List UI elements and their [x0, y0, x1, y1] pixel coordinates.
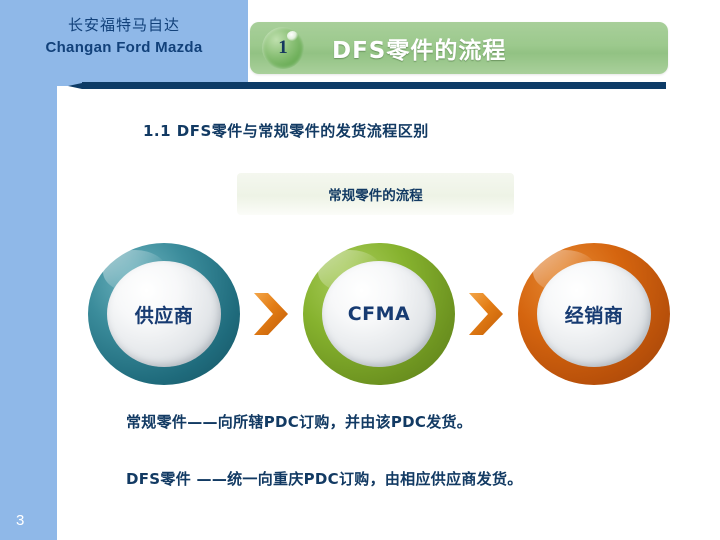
- flow-caption-label: 常规零件的流程: [237, 173, 514, 215]
- section-number-badge: 1: [262, 27, 304, 69]
- sidebar-blue-panel: [0, 86, 57, 540]
- node-label: CFMA: [303, 243, 455, 385]
- slide-canvas: 长安福特马自达 Changan Ford Mazda 1 DFS零件的流程 1.…: [0, 0, 720, 540]
- logo-english-name: Changan Ford Mazda: [0, 36, 248, 60]
- logo-chinese-name: 长安福特马自达: [0, 14, 248, 36]
- flow-caption-box: 常规零件的流程: [237, 173, 514, 215]
- node-label: 经销商: [518, 243, 670, 385]
- node-label: 供应商: [88, 243, 240, 385]
- bullet-text-regular-parts: 常规零件——向所辖PDC订购，并由该PDC发货。: [126, 411, 472, 432]
- section-number-label: 1: [262, 27, 304, 69]
- bullet-text-dfs-parts: DFS零件 ——统一向重庆PDC订购，由相应供应商发货。: [126, 468, 523, 489]
- diagram-node-dealer: 经销商: [518, 243, 670, 385]
- company-logo: 长安福特马自达 Changan Ford Mazda: [0, 14, 248, 60]
- chevron-right-icon: [467, 291, 505, 337]
- header-divider-rule: [82, 82, 666, 89]
- chevron-right-icon: [252, 291, 290, 337]
- diagram-node-supplier: 供应商: [88, 243, 240, 385]
- diagram-node-cfma: CFMA: [303, 243, 455, 385]
- page-number: 3: [16, 512, 24, 529]
- section-title-banner: 1 DFS零件的流程: [250, 22, 668, 74]
- page-subtitle: 1.1 DFS零件与常规零件的发货流程区别: [143, 120, 429, 141]
- section-title-label: DFS零件的流程: [332, 22, 662, 74]
